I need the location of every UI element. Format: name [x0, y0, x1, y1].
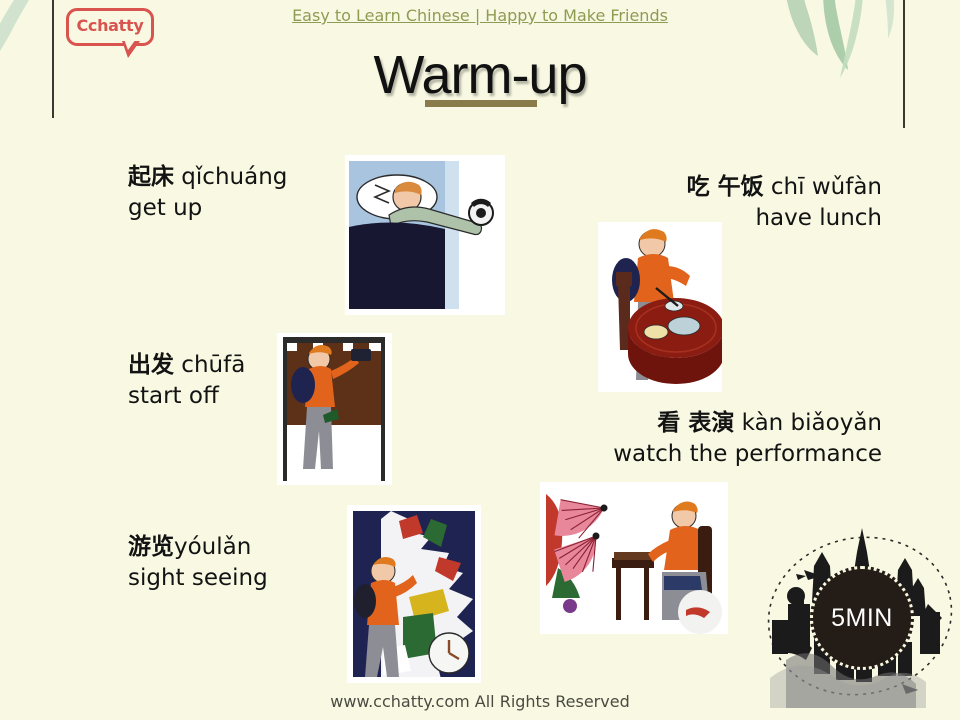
illustration-start-off	[277, 333, 392, 485]
vocab-chinese-sight-seeing: 游览	[128, 534, 174, 560]
vocab-chinese-pinyin-have-lunch: 吃 午饭 chī wǔfàn	[687, 172, 882, 203]
vocab-english-start-off: start off	[128, 381, 245, 412]
vocab-pinyin-start-off: chūfā	[174, 352, 245, 378]
illustration-get-up	[345, 155, 505, 315]
vocab-pinyin-watch-performance: kàn biǎoyǎn	[734, 410, 882, 436]
slide-canvas: Cchatty Easy to Learn Chinese | Happy to…	[0, 0, 960, 720]
vocab-item-watch-performance: 看 表演 kàn biǎoyǎn watch the performance	[613, 408, 882, 470]
vocab-chinese-pinyin-sight-seeing: 游览yóulǎn	[128, 532, 268, 563]
vocab-chinese-get-up: 起床	[128, 164, 174, 190]
vocab-english-have-lunch: have lunch	[687, 203, 882, 234]
vocab-item-start-off: 出发 chūfā start off	[128, 350, 245, 412]
vocab-chinese-pinyin-watch-performance: 看 表演 kàn biǎoyǎn	[613, 408, 882, 439]
vocab-chinese-pinyin-get-up: 起床 qǐchuáng	[128, 162, 287, 193]
timer-badge-circle: 5MIN	[810, 566, 914, 670]
vocab-chinese-watch-performance: 看 表演	[657, 410, 734, 436]
timer-badge: 5MIN	[752, 508, 960, 708]
title-underline-rule	[425, 100, 537, 107]
vocab-pinyin-sight-seeing: yóulǎn	[174, 534, 251, 560]
vocab-pinyin-have-lunch: chī wǔfàn	[764, 174, 882, 200]
vocab-item-sight-seeing: 游览yóulǎn sight seeing	[128, 532, 268, 594]
vocab-pinyin-get-up: qǐchuáng	[174, 164, 287, 190]
illustration-watch-performance	[540, 482, 728, 634]
footer-copyright: www.cchatty.com All Rights Reserved	[0, 692, 960, 711]
vocab-english-watch-performance: watch the performance	[613, 439, 882, 470]
tagline: Easy to Learn Chinese | Happy to Make Fr…	[0, 6, 960, 25]
vocab-chinese-have-lunch: 吃 午饭	[687, 174, 764, 200]
illustration-have-lunch	[598, 222, 722, 392]
vocab-item-get-up: 起床 qǐchuáng get up	[128, 162, 287, 224]
vocab-english-sight-seeing: sight seeing	[128, 563, 268, 594]
vocab-english-get-up: get up	[128, 193, 287, 224]
page-title: Warm-up	[0, 44, 960, 106]
timer-badge-label: 5MIN	[831, 604, 893, 633]
vocab-chinese-pinyin-start-off: 出发 chūfā	[128, 350, 245, 381]
vocab-chinese-start-off: 出发	[128, 352, 174, 378]
vocab-item-have-lunch: 吃 午饭 chī wǔfàn have lunch	[687, 172, 882, 234]
illustration-sight-seeing	[347, 505, 481, 683]
